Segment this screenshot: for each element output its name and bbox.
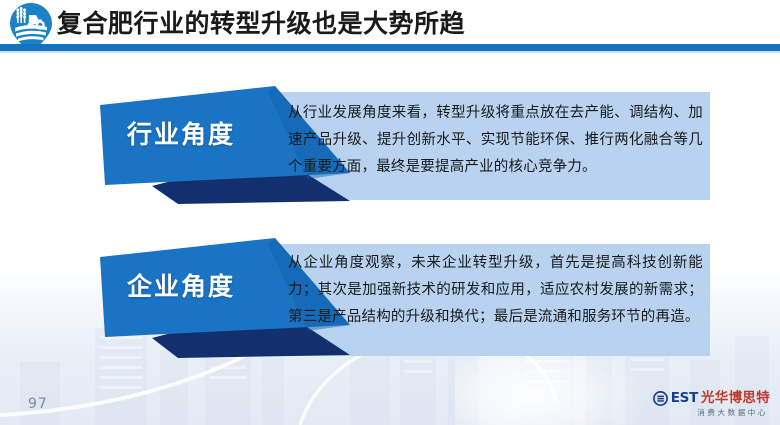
header-rule bbox=[0, 44, 780, 51]
best-logo-icon bbox=[653, 391, 668, 406]
header-rule-shadow bbox=[0, 51, 780, 53]
brand-name-en: EST bbox=[671, 391, 698, 406]
industry-body-text: 从行业发展角度来看，转型升级将重点放在去产能、调结构、加速产品升级、提升创新水平… bbox=[288, 100, 703, 181]
brand-subtitle: 消费大数据中心 bbox=[620, 407, 770, 418]
slide-header: 复合肥行业的转型升级也是大势所趋 bbox=[0, 0, 780, 52]
slide-canvas: 复合肥行业的转型升级也是大势所趋 行业角度 从行业发展角度来看，转型升级将重点放… bbox=[0, 0, 780, 425]
brand-name-cn: 光华博思特 bbox=[701, 391, 770, 406]
content-block-industry: 行业角度 从行业发展角度来看，转型升级将重点放在去产能、调结构、加速产品升级、提… bbox=[100, 86, 715, 206]
brand-logo-row: EST 光华博思特 bbox=[620, 390, 770, 407]
enterprise-body-text: 从企业角度观察，未来企业转型升级，首先是提高科技创新能力；其次是加强新技术的研发… bbox=[288, 250, 703, 331]
brand-logo: EST 光华博思特 消费大数据中心 bbox=[620, 390, 770, 420]
page-title: 复合肥行业的转型升级也是大势所趋 bbox=[57, 8, 465, 40]
content-block-enterprise: 企业角度 从企业角度观察，未来企业转型升级，首先是提高科技创新能力；其次是加强新… bbox=[100, 238, 715, 360]
enterprise-banner-label: 企业角度 bbox=[127, 267, 235, 303]
industry-banner-label: 行业角度 bbox=[127, 115, 235, 151]
page-number: 97 bbox=[28, 396, 48, 412]
